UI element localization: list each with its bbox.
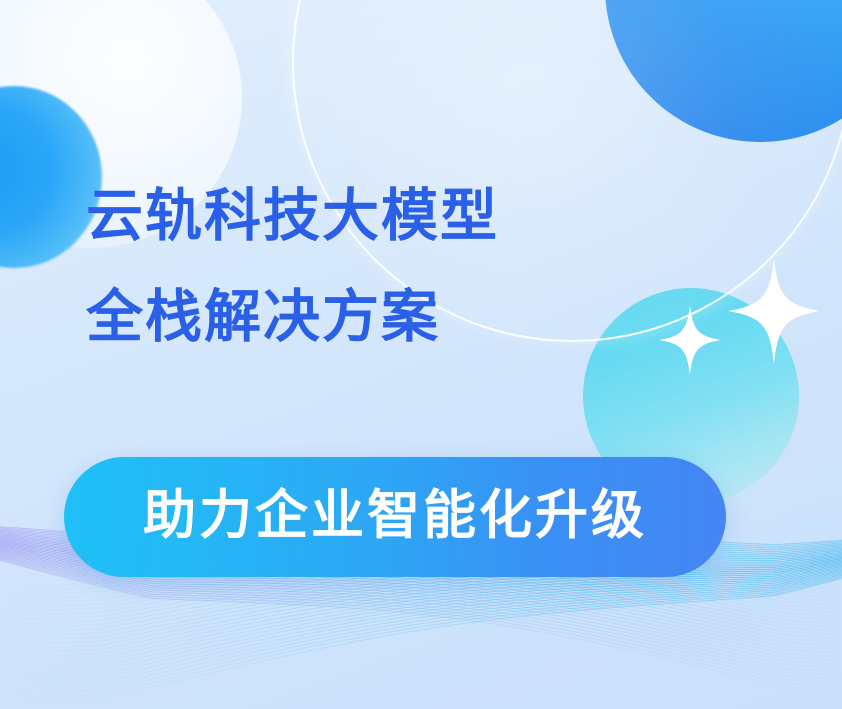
cta-pill-button[interactable]: 助力企业智能化升级 xyxy=(64,457,726,577)
sparkle-large-icon xyxy=(726,256,822,366)
cta-label: 助力企业智能化升级 xyxy=(143,489,647,546)
blue-circle-decor-icon xyxy=(605,0,842,142)
headline-line-1: 云轨科技大模型 xyxy=(86,188,686,245)
headline-line-2: 全栈解决方案 xyxy=(86,289,686,346)
headline-block: 云轨科技大模型 全栈解决方案 xyxy=(86,188,686,346)
promo-banner: 云轨科技大模型 全栈解决方案 助力企业智能化升级 xyxy=(0,0,842,709)
